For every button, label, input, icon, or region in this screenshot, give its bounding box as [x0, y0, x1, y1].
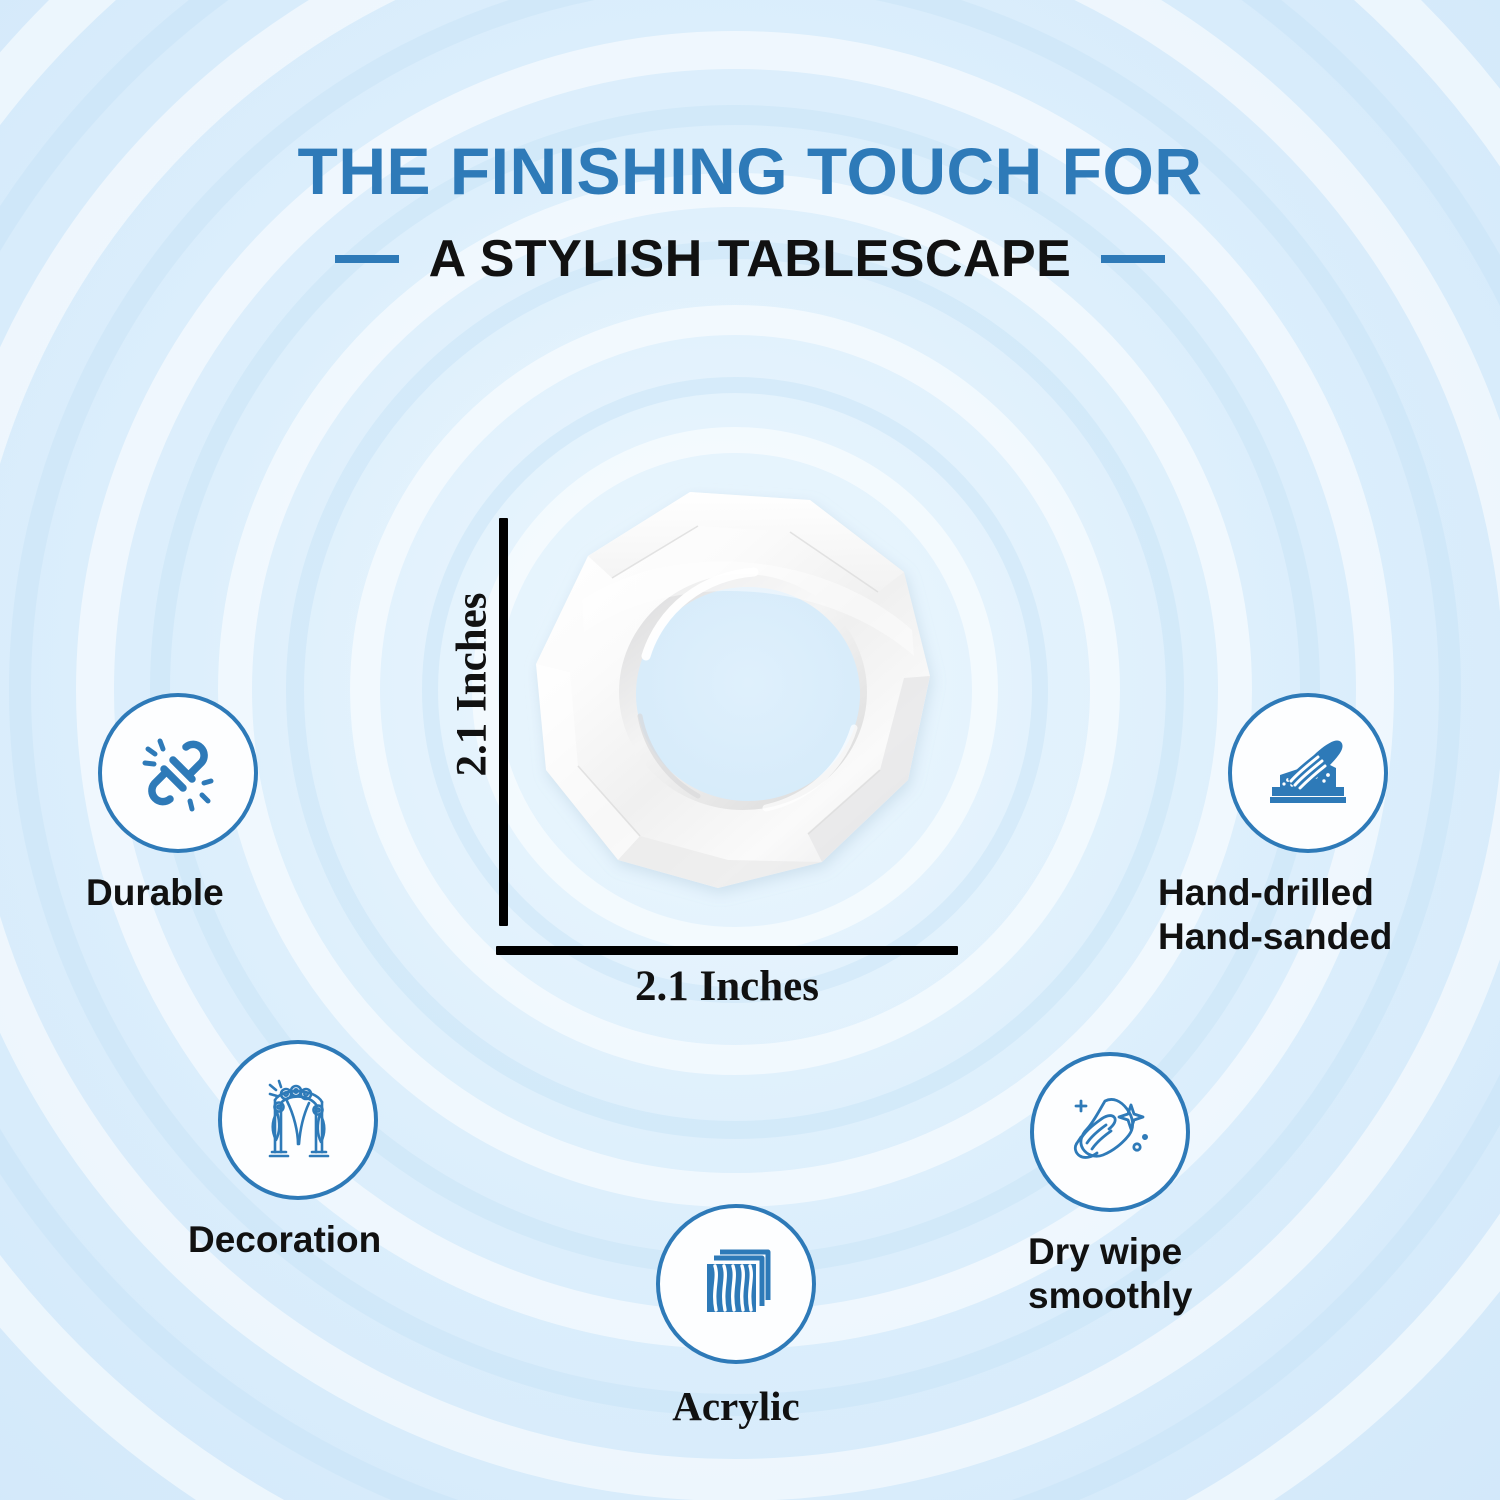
feature-decoration[interactable]: Decoration — [218, 1040, 381, 1262]
chain-link-icon — [130, 725, 226, 821]
infographic-canvas: THE FINISHING TOUCH FOR A STYLISH TABLES… — [0, 0, 1500, 1500]
feature-icon-circle — [656, 1204, 816, 1364]
vertical-dimension-line — [499, 518, 508, 926]
feature-dry-wipe-smoothly[interactable]: Dry wipe smoothly — [1030, 1052, 1192, 1317]
feature-label: Dry wipe smoothly — [1028, 1230, 1192, 1317]
product-image-napkin-ring — [522, 480, 972, 930]
page-subtitle: A STYLISH TABLESCAPE — [429, 229, 1072, 289]
feature-durable[interactable]: Durable — [98, 693, 258, 915]
feature-hand-drilled-hand-sanded[interactable]: Hand-drilled Hand-sanded — [1228, 693, 1392, 958]
feature-label: Decoration — [188, 1218, 381, 1262]
horizontal-dimension-line — [496, 946, 958, 955]
wedding-arch-icon — [248, 1070, 348, 1170]
feature-icon-circle — [1030, 1052, 1190, 1212]
dash-left-icon — [335, 255, 399, 263]
feature-acrylic[interactable]: Acrylic — [656, 1204, 816, 1430]
acrylic-sheets-icon — [690, 1238, 782, 1330]
feature-label: Durable — [86, 871, 258, 915]
header: THE FINISHING TOUCH FOR A STYLISH TABLES… — [0, 0, 1500, 289]
feature-icon-circle — [218, 1040, 378, 1200]
feature-label: Acrylic — [656, 1382, 816, 1430]
height-dimension-label: 2.1 Inches — [448, 570, 497, 800]
hand-sanding-icon — [1258, 723, 1358, 823]
subtitle-row: A STYLISH TABLESCAPE — [0, 229, 1500, 289]
dash-right-icon — [1101, 255, 1165, 263]
product-dimension-block: 2.1 Inches 2.1 Inches — [430, 470, 1020, 1030]
page-title: THE FINISHING TOUCH FOR — [0, 0, 1500, 205]
feature-icon-circle — [1228, 693, 1388, 853]
feature-label: Hand-drilled Hand-sanded — [1158, 871, 1392, 958]
hand-wiping-cloth-icon — [1059, 1081, 1161, 1183]
width-dimension-label: 2.1 Inches — [496, 962, 958, 1011]
feature-icon-circle — [98, 693, 258, 853]
